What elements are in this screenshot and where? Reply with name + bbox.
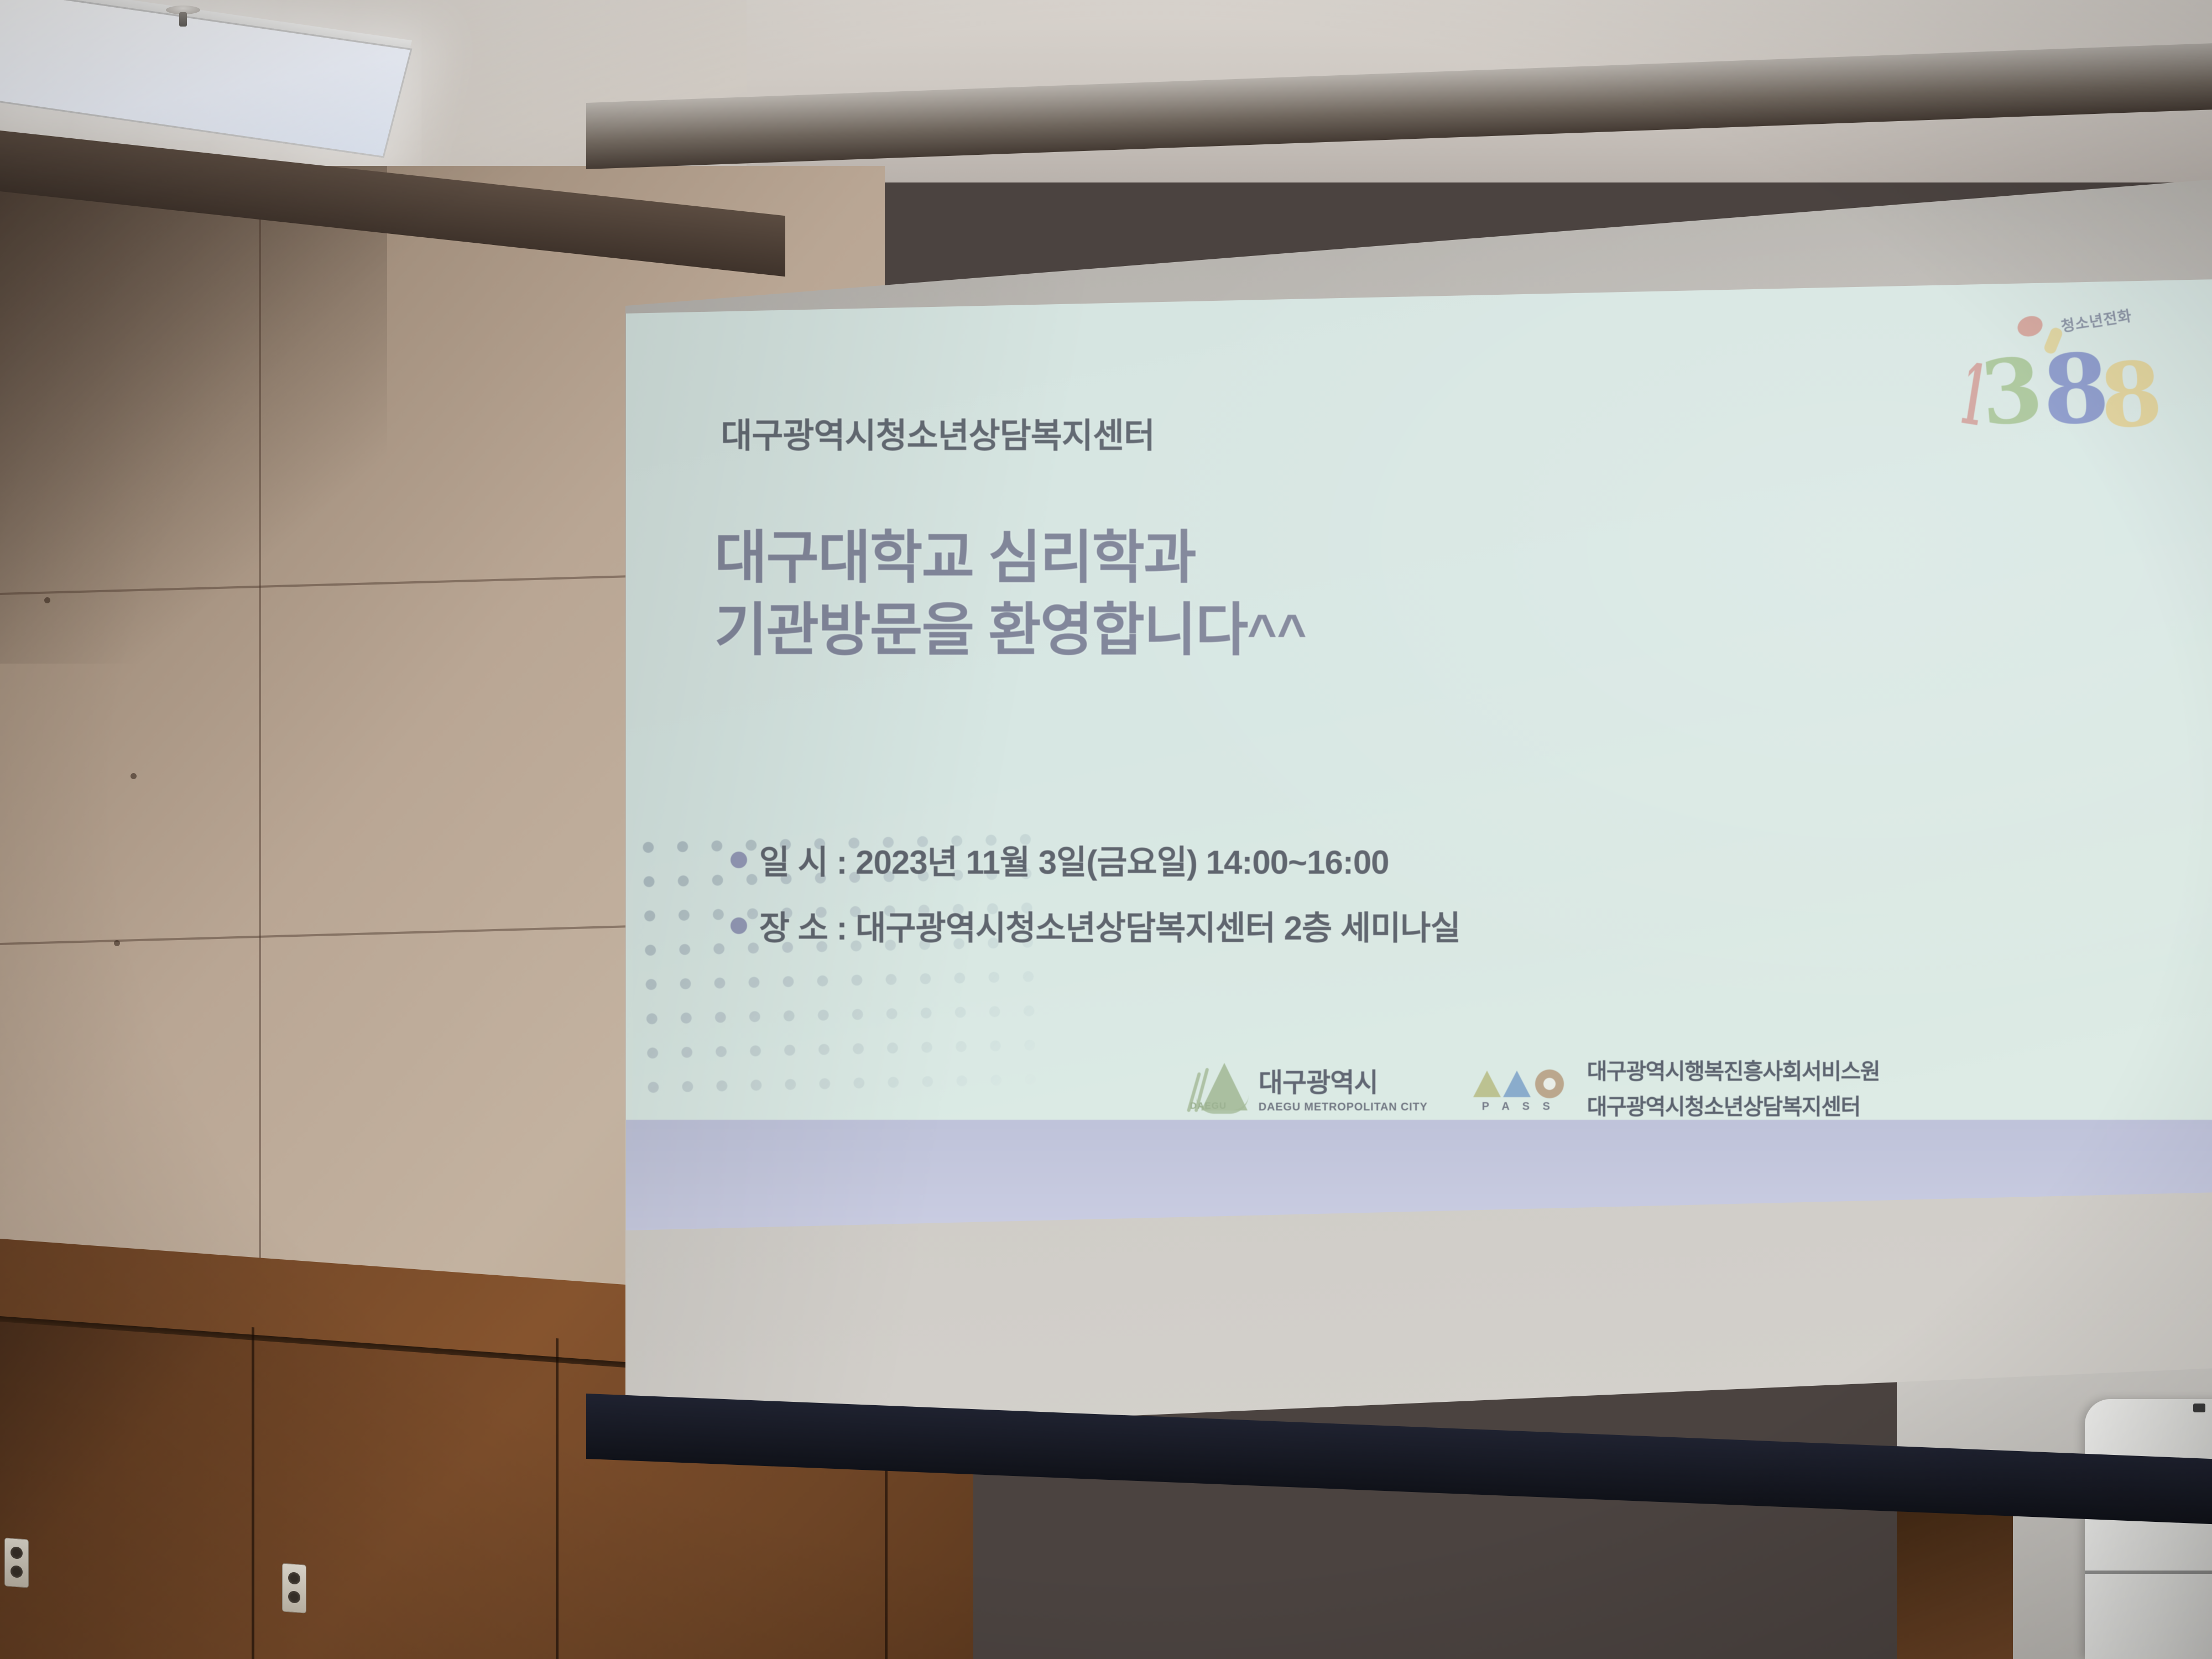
logo-1388-digit-3: 3 — [1977, 345, 2046, 438]
projected-slide: 대구광역시청소년상담복지센터 대구대학교 심리학과 기관방문을 환영합니다^^ … — [608, 279, 2212, 1230]
daegu-city-logo: DAEGU 대구광역시 DAEGU METROPOLITAN CITY — [1187, 1060, 1428, 1115]
pass-org-line-1: 대구광역시행복진흥사회서비스원 — [1587, 1053, 1880, 1086]
schedule-text: 일 시 : 2023년 11월 3일(금요일) 14:00~16:00 — [759, 836, 1389, 884]
bullet-dot-icon — [731, 917, 747, 934]
wainscot-seam — [252, 1327, 254, 1659]
cabinet-seam — [2085, 1571, 2212, 1574]
cabinet-handle-icon[interactable] — [2193, 1404, 2205, 1412]
photo-scene: 대구광역시청소년상담복지센터 대구대학교 심리학과 기관방문을 환영합니다^^ … — [0, 0, 2212, 1659]
daegu-korean-label: 대구광역시 — [1259, 1061, 1428, 1099]
bullet-dot-icon — [731, 852, 747, 868]
pass-org-line-2: 대구광역시청소년상담복지센터 — [1587, 1089, 1880, 1121]
slide-detail-list: 일 시 : 2023년 11월 3일(금요일) 14:00~16:00 장 소 … — [731, 836, 1460, 950]
headline-line-2: 기관방문을 환영합니다 — [714, 598, 1248, 662]
wall-mark — [131, 773, 137, 779]
logo-1388-digit-8b: 8 — [2097, 348, 2164, 441]
daegu-mark-label: DAEGU — [1190, 1100, 1227, 1112]
pass-logo: P A S S 대구광역시행복진흥사회서비스원 대구광역시청소년상담복지센터 — [1471, 1053, 1880, 1121]
slide-footer-logos: DAEGU 대구광역시 DAEGU METROPOLITAN CITY P A … — [1187, 1053, 1880, 1121]
power-outlet[interactable] — [282, 1563, 306, 1613]
wall-mark — [114, 940, 120, 946]
slide-organization-name: 대구광역시청소년상담복지센터 — [721, 408, 1155, 457]
sprinkler-icon — [166, 6, 200, 29]
white-cabinet — [2085, 1399, 2212, 1659]
wainscot-seam — [556, 1338, 559, 1659]
wall-panel-seam — [259, 182, 261, 1311]
list-item: 장 소 : 대구광역시청소년상담복지센터 2층 세미나실 — [731, 901, 1460, 950]
headline-line-2-wrap: 기관방문을 환영합니다^^ — [714, 594, 1307, 667]
wall-mark — [44, 597, 50, 603]
pass-mark-label: P A S S — [1482, 1100, 1555, 1113]
pass-chevron-icon: P A S S — [1471, 1061, 1576, 1114]
power-outlet[interactable] — [4, 1537, 29, 1588]
slide-headline: 대구대학교 심리학과 기관방문을 환영합니다^^ — [714, 522, 1307, 667]
headline-line-1: 대구대학교 심리학과 — [714, 522, 1307, 594]
headline-emoticon: ^^ — [1247, 604, 1306, 661]
daegu-english-label: DAEGU METROPOLITAN CITY — [1259, 1101, 1428, 1114]
daegu-mountain-icon: DAEGU — [1187, 1060, 1248, 1115]
logo-1388: 청소년전화 1 3 8 8 — [1934, 303, 2167, 441]
list-item: 일 시 : 2023년 11월 3일(금요일) 14:00~16:00 — [731, 836, 1460, 884]
location-text: 장 소 : 대구광역시청소년상담복지센터 2층 세미나실 — [759, 901, 1460, 950]
